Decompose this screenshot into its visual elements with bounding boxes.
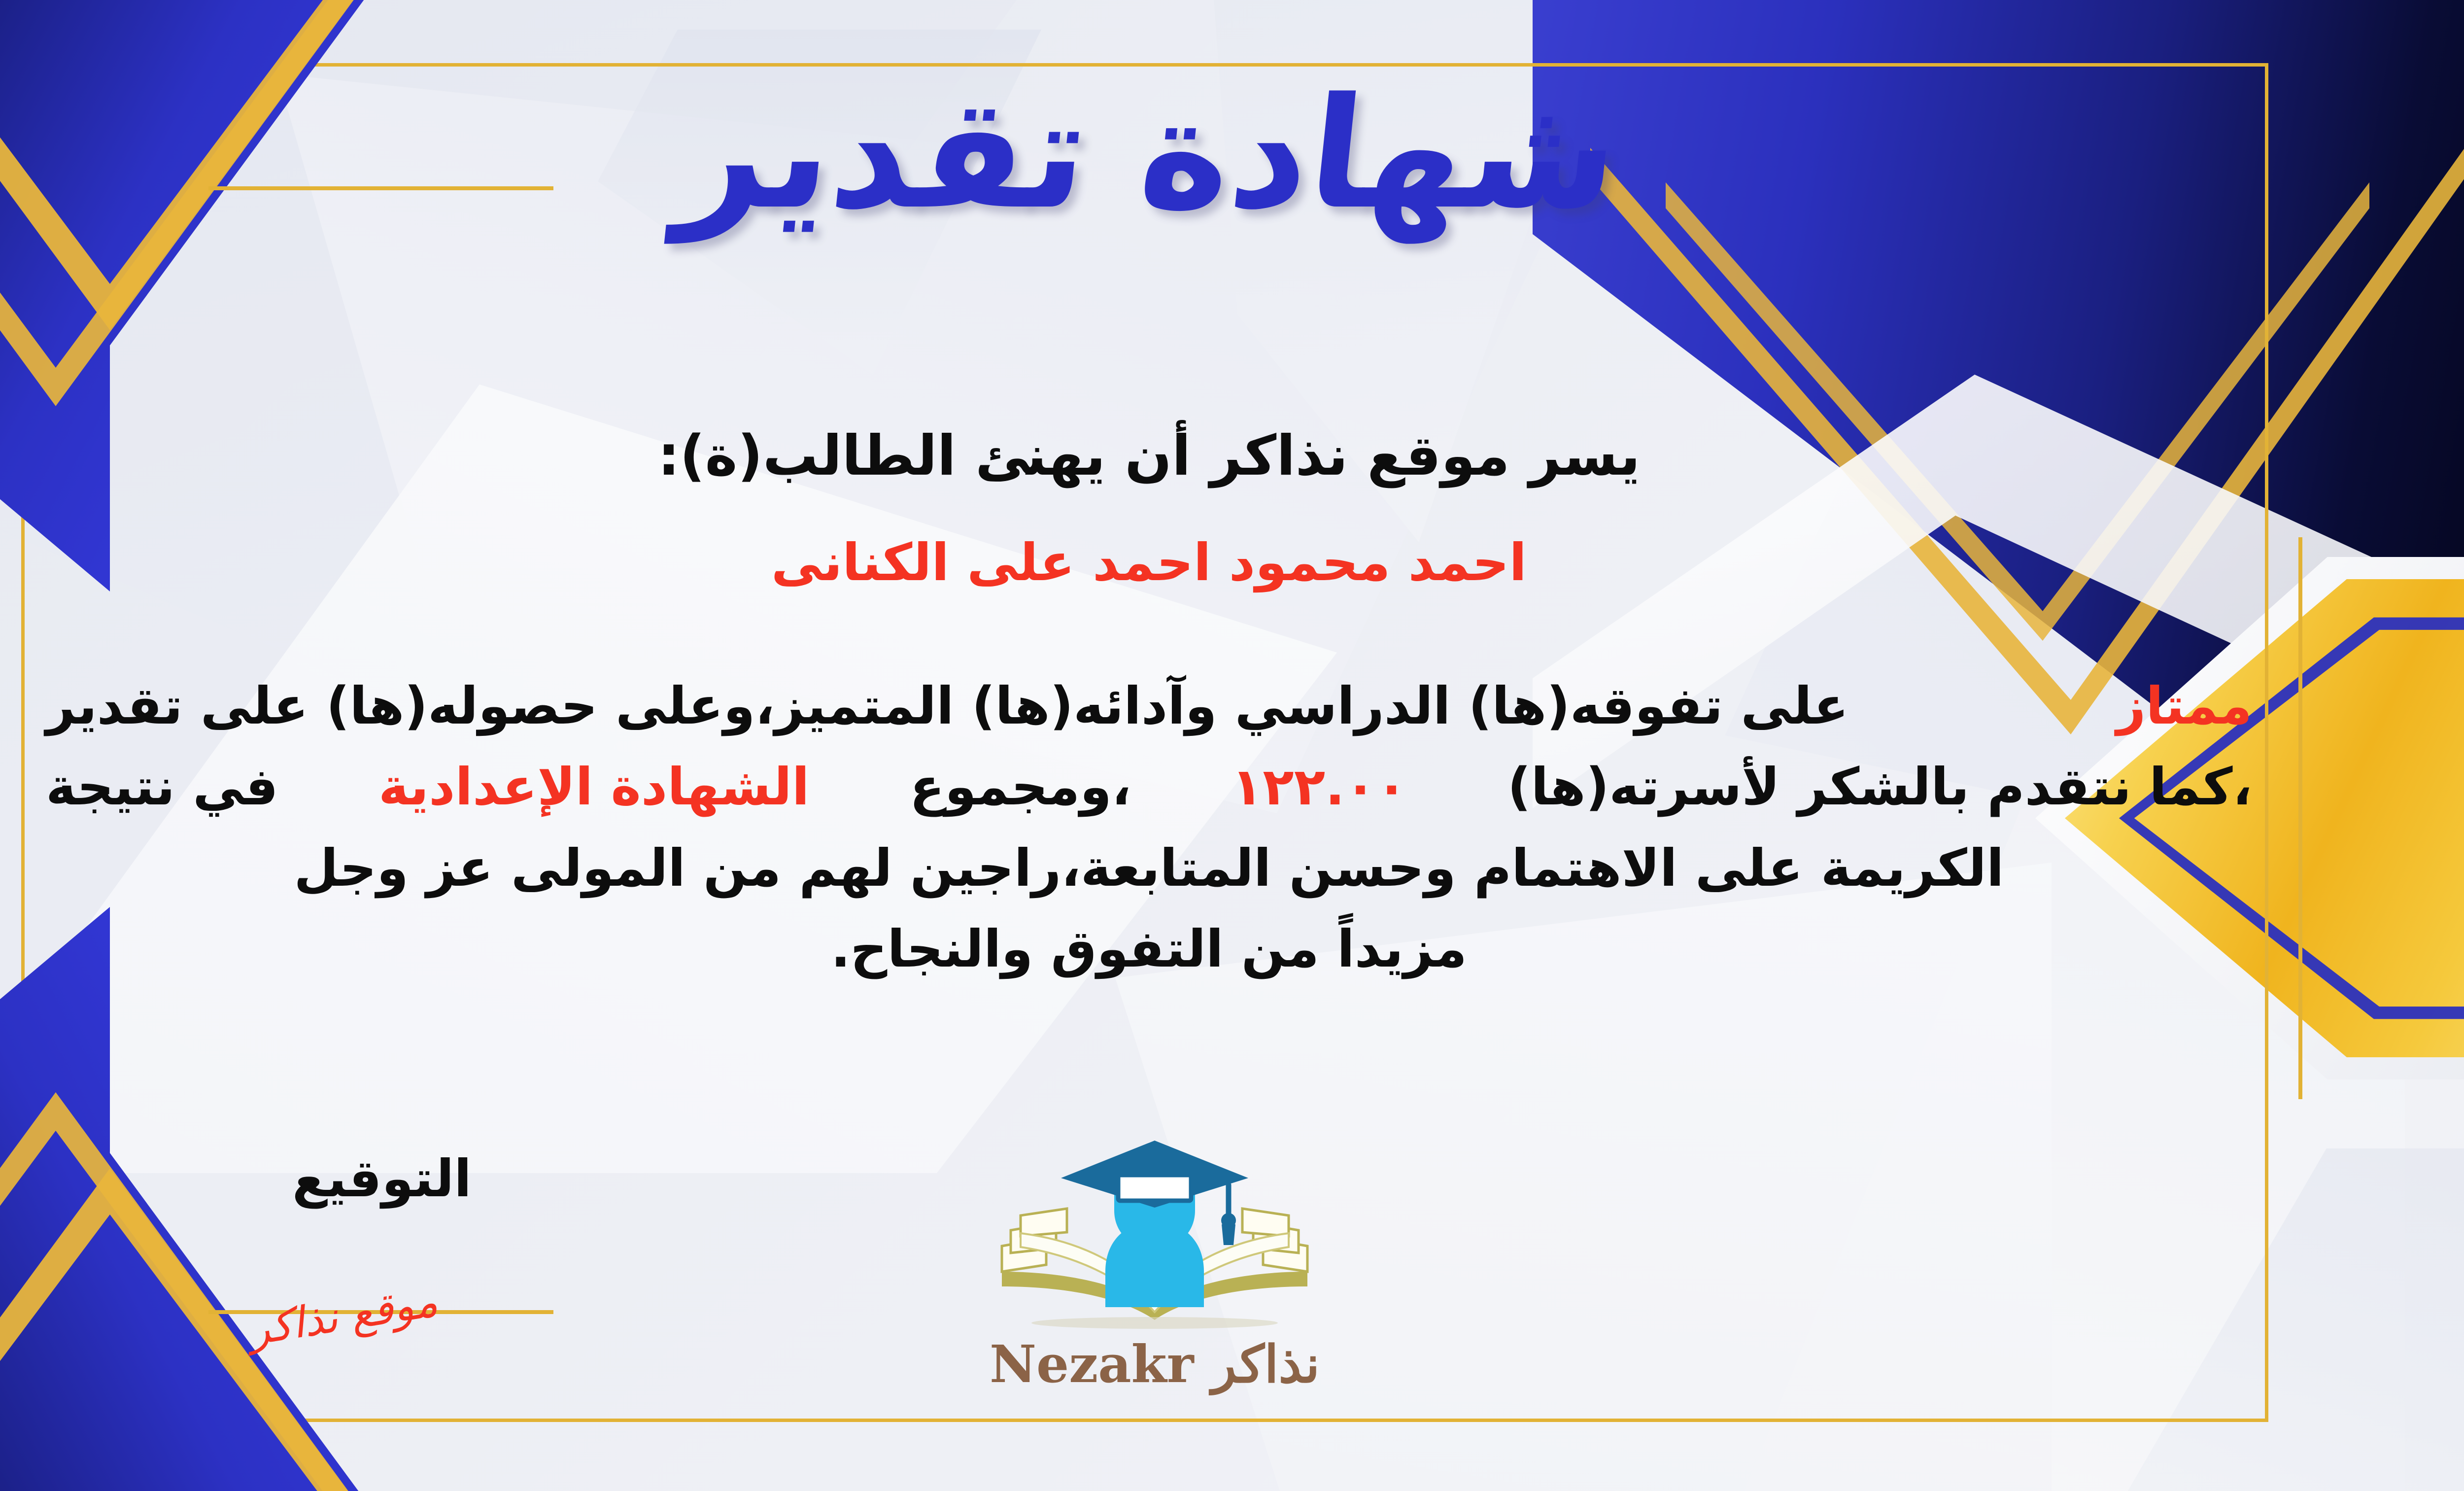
body-line-2: ،كما نتقدم بالشكر لأسرته(ها) ١٢٢.٠٠ ،ومج… xyxy=(46,746,2252,827)
site-logo: نذاكر Nezakr xyxy=(972,1124,1337,1394)
certificate-title: شهادة تقدير xyxy=(0,74,2464,235)
body-line-2-part-a: في نتيجة xyxy=(46,746,278,827)
certificate-page: شهادة تقدير يسر موقع نذاكر أن يهنئ الطال… xyxy=(0,0,2464,1491)
graduation-book-icon xyxy=(972,1124,1337,1331)
student-name: احمد محمود احمد على الكنانى xyxy=(0,532,2464,592)
body-line-2-part-b: ،ومجموع xyxy=(910,746,1131,827)
body-line-1-text: على تفوقه(ها) الدراسي وآدائه(ها) المتميز… xyxy=(46,665,1848,746)
body-line-2-part-c: ،كما نتقدم بالشكر لأسرته(ها) xyxy=(1507,746,2252,827)
certificate-content: شهادة تقدير يسر موقع نذاكر أن يهنئ الطال… xyxy=(0,0,2464,1491)
signature-label: التوقيع xyxy=(292,1148,472,1209)
signature-mark: موقع نذاكر xyxy=(245,1277,441,1355)
body-line-1: ممتاز على تفوقه(ها) الدراسي وآدائه(ها) ا… xyxy=(46,665,2252,746)
total-score-value: ١٢٢.٠٠ xyxy=(1232,746,1407,827)
grade-value: ممتاز xyxy=(2117,665,2253,746)
greeting-text: يسر موقع نذاكر أن يهنئ الطالب(ة): xyxy=(0,424,2464,488)
logo-wordmark: نذاكر Nezakr xyxy=(972,1334,1337,1394)
exam-name-value: الشهادة الإعدادية xyxy=(378,746,810,827)
certificate-body: ممتاز على تفوقه(ها) الدراسي وآدائه(ها) ا… xyxy=(46,665,2252,989)
body-line-3: الكريمة على الاهتمام وحسن المتابعة،راجين… xyxy=(46,828,2252,908)
body-line-4: مزيداً من التفوق والنجاح. xyxy=(46,908,2252,989)
